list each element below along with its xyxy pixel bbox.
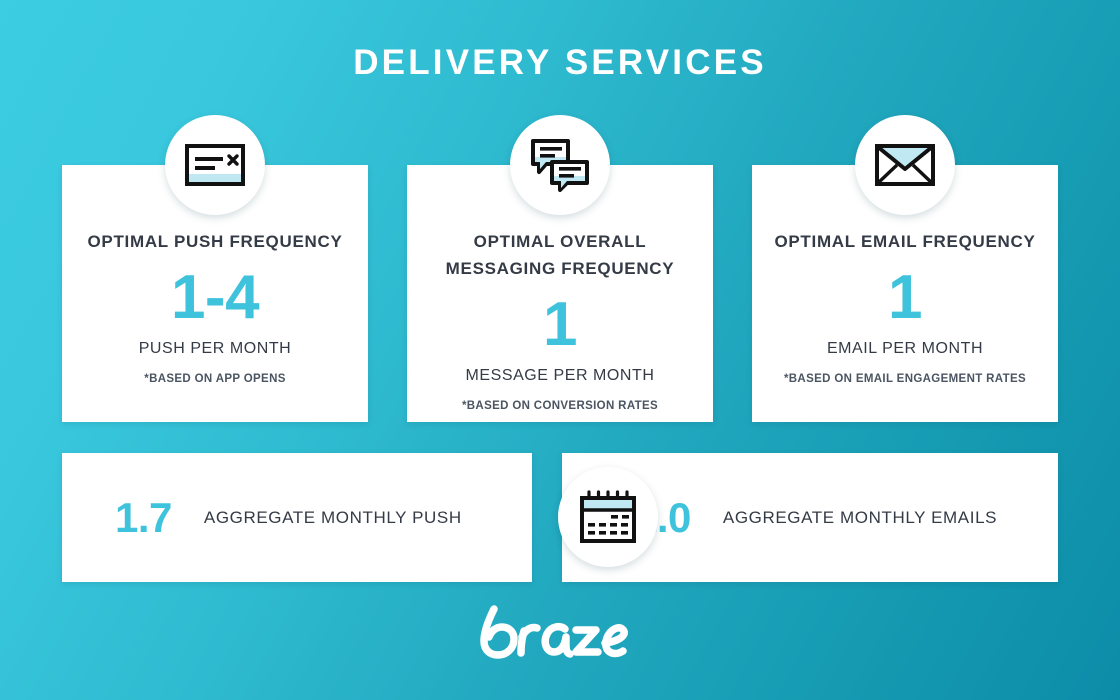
card-note: *BASED ON APP OPENS xyxy=(76,371,354,387)
push-notification-icon xyxy=(165,115,265,215)
aggregate-push-label: AGGREGATE MONTHLY PUSH xyxy=(204,507,462,529)
card-value: 1-4 xyxy=(76,260,354,336)
chat-bubbles-icon xyxy=(510,115,610,215)
card-value: 1 xyxy=(421,287,699,363)
metric-card-row: OPTIMAL PUSH FREQUENCY 1-4 PUSH PER MONT… xyxy=(62,165,1058,422)
card-note: *BASED ON CONVERSION RATES xyxy=(421,398,699,414)
envelope-icon xyxy=(855,115,955,215)
aggregate-push-value: 1.7 xyxy=(115,493,172,543)
card-unit: EMAIL PER MONTH xyxy=(766,339,1044,359)
page-title: DELIVERY SERVICES xyxy=(0,41,1120,85)
calendar-icon xyxy=(558,467,658,567)
metric-card-push[interactable]: OPTIMAL PUSH FREQUENCY 1-4 PUSH PER MONT… xyxy=(62,165,368,422)
card-unit: MESSAGE PER MONTH xyxy=(421,366,699,386)
aggregate-summary-bar: 1.7 AGGREGATE MONTHLY PUSH 1.0 AGGREGATE… xyxy=(62,453,1058,582)
card-unit: PUSH PER MONTH xyxy=(76,339,354,359)
aggregate-email-label: AGGREGATE MONTHLY EMAILS xyxy=(723,507,997,529)
aggregate-push-panel[interactable]: 1.7 AGGREGATE MONTHLY PUSH xyxy=(62,453,532,582)
metric-card-email[interactable]: OPTIMAL EMAIL FREQUENCY 1 EMAIL PER MONT… xyxy=(752,165,1058,422)
infographic-poster: DELIVERY SERVICES OPTIMAL PUSH FREQUENCY xyxy=(0,0,1120,700)
card-note: *BASED ON EMAIL ENGAGEMENT RATES xyxy=(766,371,1044,387)
brand-logo xyxy=(0,603,1120,665)
card-heading: OPTIMAL EMAIL FREQUENCY xyxy=(766,228,1044,255)
metric-card-messaging[interactable]: OPTIMAL OVERALL MESSAGING FREQUENCY 1 ME… xyxy=(407,165,713,422)
card-heading: OPTIMAL PUSH FREQUENCY xyxy=(76,228,354,255)
card-value: 1 xyxy=(766,260,1044,336)
card-heading: OPTIMAL OVERALL MESSAGING FREQUENCY xyxy=(421,228,699,282)
